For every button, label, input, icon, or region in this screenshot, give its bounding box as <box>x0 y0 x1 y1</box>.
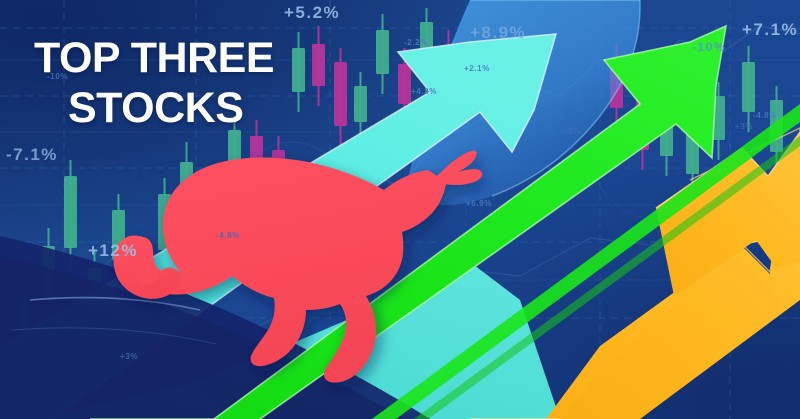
percent-label: +12% <box>88 241 138 261</box>
percent-label: +4.3% <box>411 87 437 96</box>
percent-label: -4.8% <box>753 111 777 120</box>
percent-label: -7.1% <box>6 145 58 165</box>
percent-label: -10% <box>692 40 726 54</box>
percent-label: +3% <box>735 122 753 131</box>
percent-label: +2% <box>563 127 581 136</box>
percent-label: +6.9% <box>466 199 492 208</box>
stock-banner: +5.2%+8.9%+7.1%-7.1%+12%-10%-10%-2.2%+2.… <box>0 0 800 419</box>
percent-label: +5.2% <box>284 3 340 23</box>
percent-label: +8.9% <box>470 23 526 43</box>
percent-label: +3% <box>120 352 138 361</box>
percent-label: -2.2% <box>404 38 428 47</box>
percent-label: -10% <box>47 72 68 81</box>
percent-labels: +5.2%+8.9%+7.1%-7.1%+12%-10%-10%-2.2%+2.… <box>0 0 800 419</box>
percent-label: +7.1% <box>742 20 798 40</box>
percent-label: -4.8% <box>216 231 240 240</box>
percent-label: +2.1% <box>464 64 490 73</box>
